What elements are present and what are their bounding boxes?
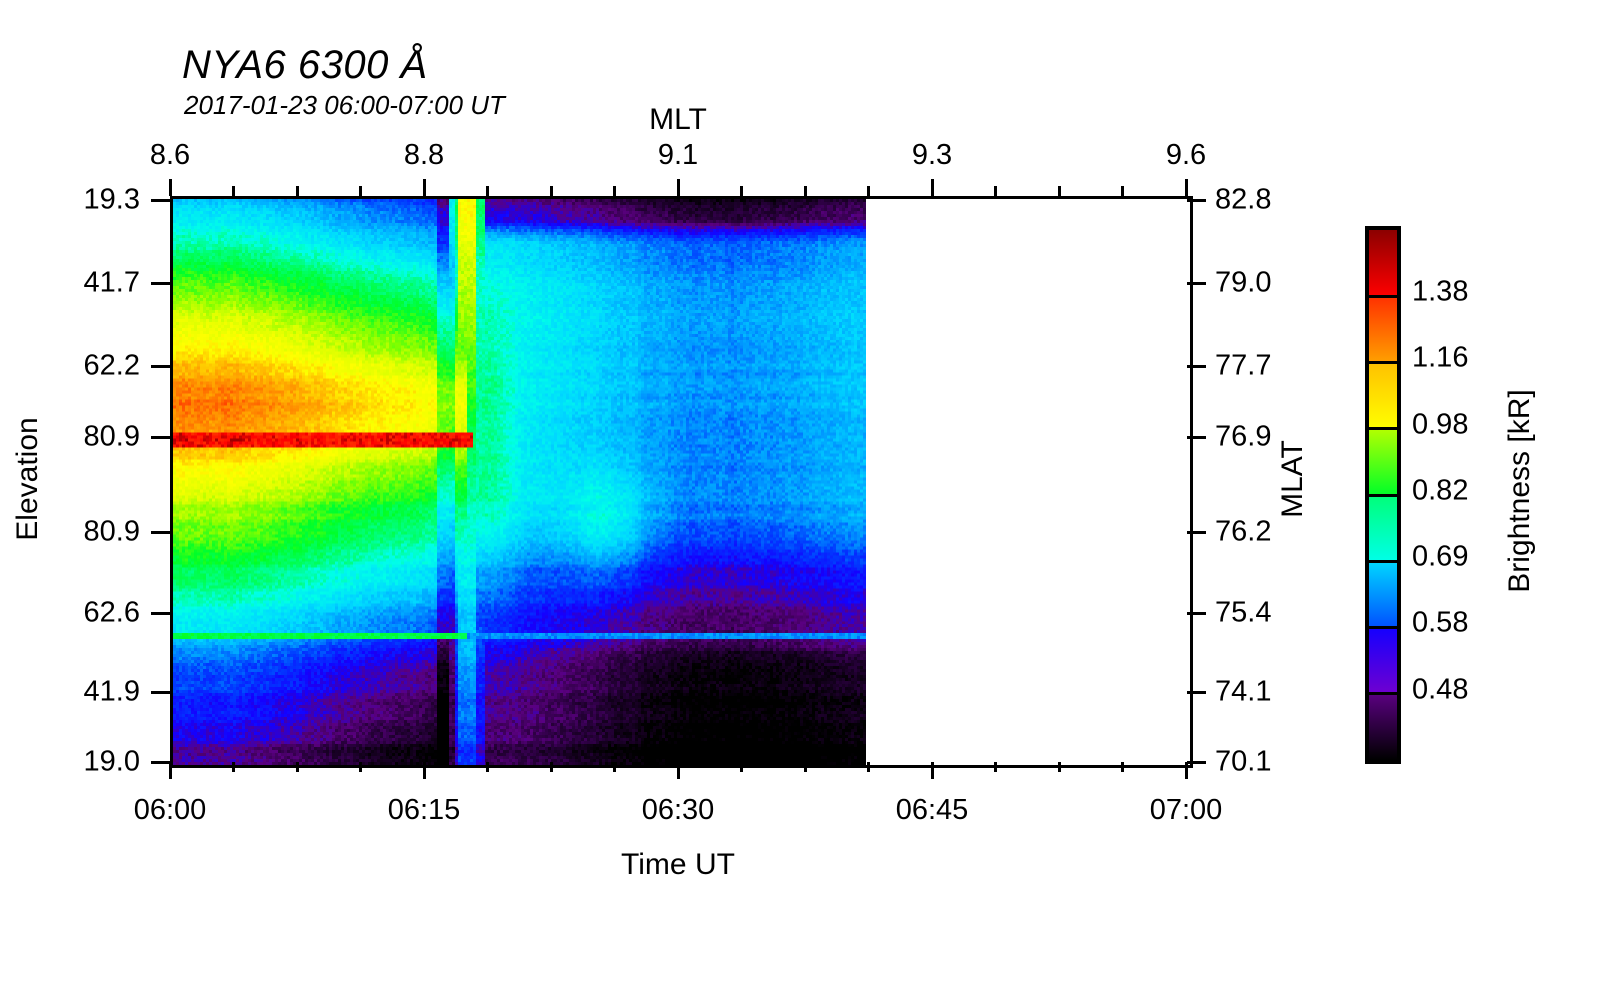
bottom-major-tick [931,762,934,779]
left-tick-label-1: 41.7 [84,267,140,300]
left-tick [151,531,170,534]
left-tick-label-4: 80.9 [84,516,140,549]
top-tick-label-3: 9.3 [912,139,952,172]
bottom-minor-tick [1058,762,1061,772]
colorbar-tick-label-4: 0.69 [1412,541,1468,574]
bottom-tick-label-3: 06:45 [896,794,969,827]
bottom-minor-tick [232,762,235,772]
top-major-tick [169,179,172,196]
top-major-tick [423,179,426,196]
colorbar-title: Brightness [kR] [1503,389,1537,592]
bottom-minor-tick [613,762,616,772]
top-axis-title: MLT [649,103,707,137]
top-minor-tick [486,186,489,196]
top-minor-tick [740,186,743,196]
right-tick [1187,365,1206,368]
left-tick-label-0: 19.3 [84,184,140,217]
left-tick-label-2: 62.2 [84,350,140,383]
top-tick-label-1: 8.8 [404,139,444,172]
top-tick-label-0: 8.6 [150,139,190,172]
colorbar-separator [1369,295,1397,298]
bottom-axis-title: Time UT [621,848,735,882]
top-minor-tick [1121,186,1124,196]
top-major-tick [1185,179,1188,196]
right-tick-label-4: 76.2 [1215,516,1271,549]
colorbar-separator [1369,427,1397,430]
right-tick [1187,531,1206,534]
top-minor-tick [1058,186,1061,196]
top-tick-label-2: 9.1 [658,139,698,172]
left-tick [151,199,170,202]
top-minor-tick [867,186,870,196]
heatmap-canvas-holder [173,199,1190,765]
plot-area [170,196,1193,768]
left-axis-title: Elevation [11,417,45,540]
colorbar-separator [1369,361,1397,364]
right-tick [1187,436,1206,439]
colorbar-tick-label-3: 0.82 [1412,475,1468,508]
bottom-tick-label-4: 07:00 [1150,794,1223,827]
top-tick-label-4: 9.6 [1166,139,1206,172]
right-tick [1187,691,1206,694]
bottom-tick-label-0: 06:00 [134,794,207,827]
colorbar-separator [1369,560,1397,563]
right-tick-label-5: 75.4 [1215,597,1271,630]
top-minor-tick [296,186,299,196]
bottom-minor-tick [550,762,553,772]
right-tick [1187,199,1206,202]
right-tick [1187,761,1206,764]
bottom-minor-tick [296,762,299,772]
colorbar-separator [1369,692,1397,695]
bottom-minor-tick [994,762,997,772]
right-tick-label-6: 74.1 [1215,676,1271,709]
colorbar-tick-label-6: 0.48 [1412,674,1468,707]
right-tick-label-0: 82.8 [1215,184,1271,217]
left-tick [151,436,170,439]
top-minor-tick [994,186,997,196]
left-tick [151,282,170,285]
left-tick [151,761,170,764]
colorbar-separator [1369,626,1397,629]
bottom-major-tick [169,762,172,779]
bottom-minor-tick [359,762,362,772]
left-tick [151,365,170,368]
top-minor-tick [550,186,553,196]
top-minor-tick [804,186,807,196]
colorbar-tick-label-2: 0.98 [1412,409,1468,442]
top-major-tick [677,179,680,196]
bottom-minor-tick [1121,762,1124,772]
right-tick-label-7: 70.1 [1215,746,1271,779]
bottom-tick-label-2: 06:30 [642,794,715,827]
right-tick-label-3: 76.9 [1215,421,1271,454]
top-minor-tick [232,186,235,196]
right-axis-title: MLAT [1276,440,1310,518]
left-tick-label-3: 80.9 [84,421,140,454]
right-tick [1187,612,1206,615]
right-tick-label-1: 79.0 [1215,267,1271,300]
left-tick-label-6: 41.9 [84,676,140,709]
colorbar-tick-label-5: 0.58 [1412,607,1468,640]
page-subtitle: 2017-01-23 06:00-07:00 UT [184,90,505,121]
colorbar [1365,226,1401,764]
top-minor-tick [613,186,616,196]
bottom-minor-tick [804,762,807,772]
bottom-major-tick [423,762,426,779]
colorbar-tick-label-0: 1.38 [1412,276,1468,309]
bottom-minor-tick [486,762,489,772]
colorbar-gradient [1369,230,1397,760]
keogram-heatmap [173,199,1190,765]
bottom-major-tick [1185,762,1188,779]
bottom-tick-label-1: 06:15 [388,794,461,827]
top-major-tick [931,179,934,196]
left-tick [151,612,170,615]
bottom-minor-tick [740,762,743,772]
right-tick-label-2: 77.7 [1215,350,1271,383]
right-tick [1187,282,1206,285]
bottom-minor-tick [867,762,870,772]
colorbar-tick-label-1: 1.16 [1412,342,1468,375]
page-title: NYA6 6300 Å [182,43,428,88]
bottom-major-tick [677,762,680,779]
colorbar-separator [1369,494,1397,497]
keogram-figure: NYA6 6300 Å 2017-01-23 06:00-07:00 UT El… [0,0,1600,1000]
left-tick [151,691,170,694]
left-tick-label-5: 62.6 [84,597,140,630]
top-minor-tick [359,186,362,196]
left-tick-label-7: 19.0 [84,746,140,779]
